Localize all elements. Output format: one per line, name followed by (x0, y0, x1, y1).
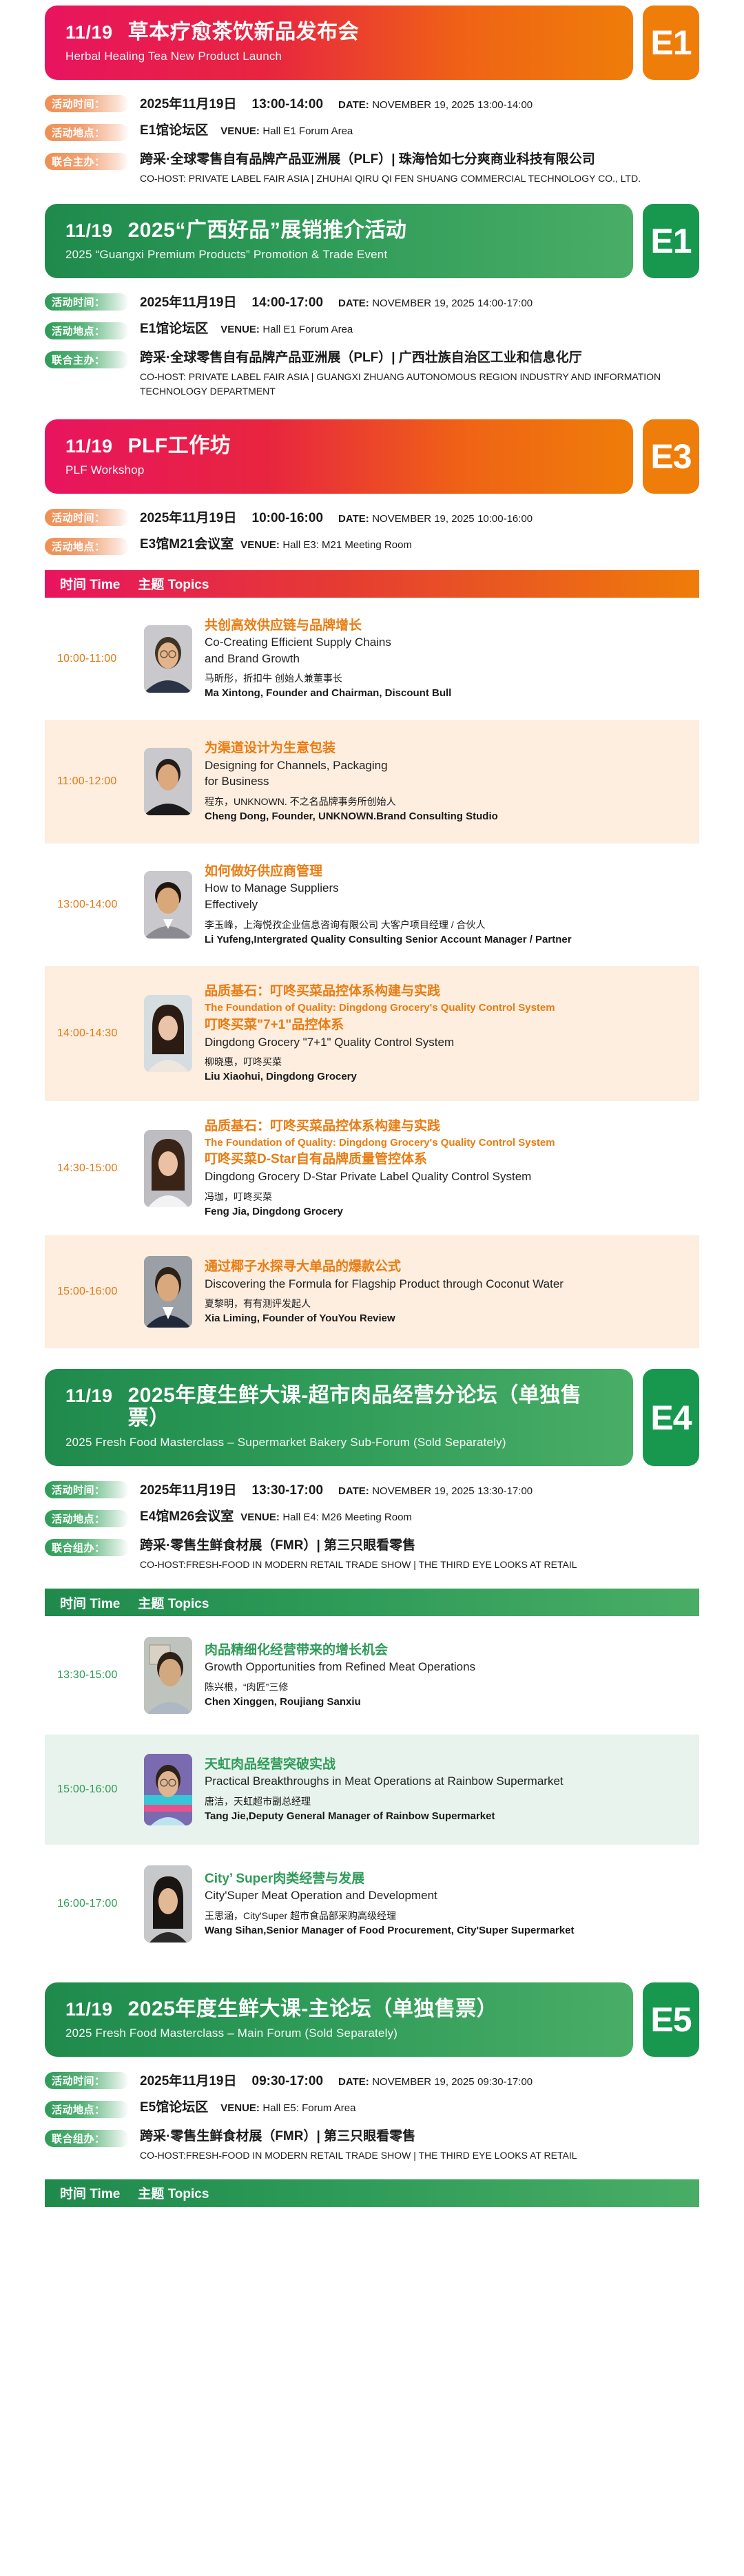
meta-chip-time: 活动时间： (45, 293, 129, 311)
meta-chip-venue: 活动地点： (45, 322, 129, 339)
speaker-avatar (144, 871, 192, 939)
venue-en-label: VENUE: (240, 539, 280, 551)
event-title-cn: PLF工作坊 (128, 434, 231, 457)
date-en: NOVEMBER 19, 2025 (372, 99, 474, 111)
meta-value-time: 2025年11月19日10:00-16:00DATE: NOVEMBER 19,… (129, 507, 699, 526)
meta-chip-venue: 活动地点： (45, 2101, 129, 2118)
hall-badge: E3 (643, 419, 699, 494)
event-block-2: 11/19 2025“广西好品”展销推介活动 2025 “Guangxi Pre… (0, 204, 744, 399)
speaker-avatar (144, 625, 192, 693)
time-cn: 2025年11月19日 (140, 511, 237, 525)
session-body: 如何做好供应商管理 How to Manage Suppliers Effect… (205, 863, 679, 947)
time-en: 09:30-17:00 (477, 2076, 533, 2088)
time-cn: 2025年11月19日 (140, 295, 237, 310)
meta-value-time: 2025年11月19日13:00-14:00DATE: NOVEMBER 19,… (129, 94, 699, 112)
host-en: CO-HOST:FRESH-FOOD IN MODERN RETAIL TRAD… (140, 2148, 699, 2163)
meta-chip-venue: 活动地点： (45, 1510, 129, 1527)
event-block-5: 11/19 2025年度生鲜大课-主论坛（单独售票） 2025 Fresh Fo… (0, 1982, 744, 2163)
speaker-cn: 程东，UNKNOWN. 不之名品牌事务所创始人 (205, 795, 679, 809)
venue-en-label: VENUE: (220, 125, 260, 137)
meta-value-host: 跨采·全球零售自有品牌产品亚洲展（PLF）| 珠海恰如七分爽商业科技有限公司 C… (129, 151, 699, 186)
meta-value-time: 2025年11月19日14:00-17:00DATE: NOVEMBER 19,… (129, 292, 699, 311)
agenda-col-topics: 主题 Topics (138, 2184, 209, 2202)
meta-chip-time: 活动时间： (45, 1481, 129, 1498)
agenda-row[interactable]: 10:00-11:00 共创高效供应链与品牌增长 Co-Creating Eff… (45, 598, 699, 721)
meta-value-host: 跨采·零售生鲜食材展（FMR）| 第三只眼看零售 CO-HOST:FRESH-F… (129, 2128, 699, 2163)
agenda-col-topics: 主题 Topics (138, 1593, 209, 1612)
agenda-col-time: 时间 Time (60, 1593, 120, 1612)
meta-row-venue: 活动地点： E1馆论坛区VENUE: Hall E1 Forum Area (45, 123, 699, 141)
meta-row-host: 联合组办： 跨采·零售生鲜食材展（FMR）| 第三只眼看零售 CO-HOST:F… (45, 1538, 699, 1572)
meta-value-venue: E1馆论坛区VENUE: Hall E1 Forum Area (129, 123, 699, 139)
host-cn: 跨采·零售生鲜食材展（FMR）| 第三只眼看零售 (140, 1538, 415, 1553)
event-banner-row: 11/19 2025年度生鲜大课-超市肉品经营分论坛（单独售票） 2025 Fr… (45, 1369, 699, 1466)
banner-title-line: 11/19 PLF工作坊 (65, 434, 612, 457)
session-subtitle-en: Dingdong Grocery D-Star Private Label Qu… (205, 1169, 679, 1185)
agenda-green: 时间 Time 主题 Topics 13:30-15:00 肉品精细化经营带来的… (0, 1589, 744, 1963)
agenda-warm: 时间 Time 主题 Topics 10:00-11:00 共创高效供应链与品牌… (0, 570, 744, 1349)
meta-chip-host: 联合组办： (45, 2130, 129, 2147)
speaker-avatar (144, 995, 192, 1072)
event-title-cn: 2025“广西好品”展销推介活动 (128, 219, 407, 242)
session-highlight-en: The Foundation of Quality: Dingdong Groc… (205, 1001, 679, 1015)
session-title-en-line2: for Business (205, 774, 679, 790)
meta-value-venue: E5馆论坛区VENUE: Hall E5: Forum Area (129, 2099, 699, 2116)
time-cn: 2025年11月19日 (140, 97, 237, 112)
session-time: 11:00-12:00 (57, 775, 138, 788)
host-cn: 跨采·零售生鲜食材展（FMR）| 第三只眼看零售 (140, 2129, 415, 2144)
meta-row-venue: 活动地点： E3馆M21会议室VENUE: Hall E3: M21 Meeti… (45, 536, 699, 555)
meta-row-host: 联合主办： 跨采·全球零售自有品牌产品亚洲展（PLF）| 珠海恰如七分爽商业科技… (45, 151, 699, 186)
speaker-cn: 王思涵，City'Super 超市食品部采购高级经理 (205, 1909, 679, 1923)
date-en-label: DATE: (338, 513, 369, 525)
session-time: 15:00-16:00 (57, 1783, 138, 1796)
speaker-en: Li Yufeng,Intergrated Quality Consulting… (205, 932, 679, 947)
session-title-cn: City’ Super肉类经营与发展 (205, 1870, 679, 1888)
date-en-label: DATE: (338, 99, 369, 111)
meta-chip-host: 联合主办： (45, 153, 129, 170)
session-title-en-line1: Co-Creating Efficient Supply Chains (205, 635, 679, 651)
host-en: CO-HOST: PRIVATE LABEL FAIR ASIA | GUANG… (140, 370, 699, 399)
meta-chip-time: 活动时间： (45, 2072, 129, 2089)
meta-row-host: 联合组办： 跨采·零售生鲜食材展（FMR）| 第三只眼看零售 CO-HOST:F… (45, 2128, 699, 2163)
meta-value-venue: E1馆论坛区VENUE: Hall E1 Forum Area (129, 321, 699, 337)
time-range: 09:30-17:00 (252, 2074, 324, 2088)
session-body: 共创高效供应链与品牌增长 Co-Creating Efficient Suppl… (205, 617, 679, 702)
agenda-col-time: 时间 Time (60, 2184, 120, 2202)
event-meta: 活动时间： 2025年11月19日09:30-17:00DATE: NOVEMB… (45, 2071, 699, 2163)
meta-row-host: 联合主办： 跨采·全球零售自有品牌产品亚洲展（PLF）| 广西壮族自治区工业和信… (45, 350, 699, 399)
event-date: 11/19 (65, 220, 113, 242)
schedule-page: 11/19 草本疗愈茶饮新品发布会 Herbal Healing Tea New… (0, 6, 744, 2207)
venue-en-label: VENUE: (220, 324, 260, 335)
session-title-en-line1: How to Manage Suppliers (205, 881, 679, 897)
session-body: 为渠道设计为生意包装 Designing for Channels, Packa… (205, 740, 679, 824)
meta-value-time: 2025年11月19日09:30-17:00DATE: NOVEMBER 19,… (129, 2071, 699, 2089)
agenda-row[interactable]: 15:00-16:00 天虹肉品经营突破实战 Practical Breakth… (45, 1735, 699, 1845)
time-range: 13:30-17:00 (252, 1483, 324, 1498)
session-subtitle-cn: 叮咚买菜"7+1"品控体系 (205, 1016, 679, 1034)
host-en: CO-HOST: PRIVATE LABEL FAIR ASIA | ZHUHA… (140, 171, 699, 186)
banner-title-line: 11/19 2025年度生鲜大课-超市肉品经营分论坛（单独售票） (65, 1384, 612, 1430)
time-range: 14:00-17:00 (252, 295, 324, 310)
event-banner[interactable]: 11/19 2025“广西好品”展销推介活动 2025 “Guangxi Pre… (45, 204, 633, 278)
session-title-cn: 为渠道设计为生意包装 (205, 740, 679, 757)
host-cn: 跨采·全球零售自有品牌产品亚洲展（PLF）| 广西壮族自治区工业和信息化厅 (140, 350, 582, 365)
event-meta: 活动时间： 2025年11月19日10:00-16:00DATE: NOVEMB… (45, 507, 699, 555)
speaker-en: Xia Liming, Founder of YouYou Review (205, 1311, 679, 1326)
meta-chip-time: 活动时间： (45, 509, 129, 526)
venue-en: Hall E4: M26 Meeting Room (282, 1511, 412, 1523)
speaker-en: Ma Xintong, Founder and Chairman, Discou… (205, 686, 679, 701)
speaker-avatar (144, 748, 192, 815)
time-en: 10:00-16:00 (477, 513, 533, 525)
event-banner[interactable]: 11/19 草本疗愈茶饮新品发布会 Herbal Healing Tea New… (45, 6, 633, 80)
speaker-en: Cheng Dong, Founder, UNKNOWN.Brand Consu… (205, 809, 679, 824)
meta-row-time: 活动时间： 2025年11月19日13:00-14:00DATE: NOVEMB… (45, 94, 699, 112)
time-range: 10:00-16:00 (252, 511, 324, 525)
event-banner[interactable]: 11/19 2025年度生鲜大课-主论坛（单独售票） 2025 Fresh Fo… (45, 1982, 633, 2057)
time-en: 14:00-17:00 (477, 297, 533, 309)
meta-value-venue: E4馆M26会议室VENUE: Hall E4: M26 Meeting Roo… (129, 1509, 699, 1525)
venue-en-label: VENUE: (220, 2102, 260, 2114)
date-en-label: DATE: (338, 1485, 369, 1497)
event-meta: 活动时间： 2025年11月19日14:00-17:00DATE: NOVEMB… (45, 292, 699, 399)
meta-row-venue: 活动地点： E1馆论坛区VENUE: Hall E1 Forum Area (45, 321, 699, 339)
hall-badge: E4 (643, 1369, 699, 1466)
hall-badge: E1 (643, 204, 699, 278)
session-title-cn: 如何做好供应商管理 (205, 863, 679, 881)
session-highlight-en: The Foundation of Quality: Dingdong Groc… (205, 1136, 679, 1150)
speaker-avatar (144, 1256, 192, 1328)
speaker-cn: 唐洁，天虹超市副总经理 (205, 1794, 679, 1809)
banner-title-line: 11/19 2025年度生鲜大课-主论坛（单独售票） (65, 1998, 612, 2020)
time-cn: 2025年11月19日 (140, 2074, 237, 2088)
event-banner-row: 11/19 草本疗愈茶饮新品发布会 Herbal Healing Tea New… (45, 6, 699, 80)
event-date: 11/19 (65, 436, 113, 457)
agenda-col-topics: 主题 Topics (138, 574, 209, 593)
meta-row-time: 活动时间： 2025年11月19日10:00-16:00DATE: NOVEMB… (45, 507, 699, 526)
venue-cn: E3馆M21会议室 (140, 537, 234, 552)
time-en: 13:30-17:00 (477, 1485, 533, 1497)
agenda-header: 时间 Time 主题 Topics (45, 1589, 699, 1616)
session-subtitle-cn: 叮咚买菜D-Star自有品牌质量管控体系 (205, 1151, 679, 1169)
session-title-en-line1: City'Super Meat Operation and Developmen… (205, 1888, 679, 1904)
venue-en: Hall E1 Forum Area (262, 324, 353, 335)
date-en-label: DATE: (338, 297, 369, 309)
meta-row-time: 活动时间： 2025年11月19日13:30-17:00DATE: NOVEMB… (45, 1480, 699, 1498)
event-block-4: 11/19 2025年度生鲜大课-超市肉品经营分论坛（单独售票） 2025 Fr… (0, 1369, 744, 1572)
speaker-en: Liu Xiaohui, Dingdong Grocery (205, 1069, 679, 1085)
event-banner-row: 11/19 2025“广西好品”展销推介活动 2025 “Guangxi Pre… (45, 204, 699, 278)
session-time: 14:30-15:00 (57, 1162, 138, 1175)
meta-row-time: 活动时间： 2025年11月19日14:00-17:00DATE: NOVEMB… (45, 292, 699, 311)
date-en: NOVEMBER 19, 2025 (372, 2076, 474, 2088)
agenda-green-2: 时间 Time 主题 Topics (0, 2179, 744, 2207)
event-date: 11/19 (65, 22, 113, 43)
session-title-en-line1: Growth Opportunities from Refined Meat O… (205, 1659, 679, 1675)
hall-badge: E1 (643, 6, 699, 80)
session-title-en-line2: and Brand Growth (205, 651, 679, 667)
venue-en: Hall E3: M21 Meeting Room (282, 539, 412, 551)
host-cn: 跨采·全球零售自有品牌产品亚洲展（PLF）| 珠海恰如七分爽商业科技有限公司 (140, 152, 595, 167)
event-title-en: Herbal Healing Tea New Product Launch (65, 50, 612, 63)
meta-row-time: 活动时间： 2025年11月19日09:30-17:00DATE: NOVEMB… (45, 2071, 699, 2089)
hall-badge: E5 (643, 1982, 699, 2057)
session-title-en-line2: Effectively (205, 897, 679, 913)
meta-chip-host: 联合主办： (45, 351, 129, 368)
session-title-cn: 品质基石：叮咚买菜品控体系构建与实践 (205, 983, 679, 1001)
venue-cn: E1馆论坛区 (140, 322, 208, 336)
event-block-3: 11/19 PLF工作坊 PLF Workshop E3 活动时间： 2025年… (0, 419, 744, 555)
meta-value-host: 跨采·全球零售自有品牌产品亚洲展（PLF）| 广西壮族自治区工业和信息化厅 CO… (129, 350, 699, 399)
event-title-cn: 2025年度生鲜大课-超市肉品经营分论坛（单独售票） (128, 1384, 612, 1430)
meta-chip-host: 联合组办： (45, 1539, 129, 1556)
event-date: 11/19 (65, 1999, 113, 2020)
meta-row-venue: 活动地点： E4馆M26会议室VENUE: Hall E4: M26 Meeti… (45, 1509, 699, 1527)
speaker-cn: 陈兴根，“肉匠”三修 (205, 1680, 679, 1695)
meta-row-venue: 活动地点： E5馆论坛区VENUE: Hall E5: Forum Area (45, 2099, 699, 2118)
session-title-cn: 品质基石：叮咚买菜品控体系构建与实践 (205, 1118, 679, 1135)
session-time: 15:00-16:00 (57, 1286, 138, 1298)
event-meta: 活动时间： 2025年11月19日13:30-17:00DATE: NOVEMB… (45, 1480, 699, 1572)
session-title-cn: 通过椰子水探寻大单品的爆款公式 (205, 1258, 679, 1276)
banner-title-line: 11/19 2025“广西好品”展销推介活动 (65, 219, 612, 242)
speaker-en: Feng Jia, Dingdong Grocery (205, 1204, 679, 1219)
meta-chip-venue: 活动地点： (45, 124, 129, 141)
event-title-en: 2025 “Guangxi Premium Products” Promotio… (65, 248, 612, 262)
event-banner-row: 11/19 PLF工作坊 PLF Workshop E3 (45, 419, 699, 494)
event-title-cn: 草本疗愈茶饮新品发布会 (128, 21, 360, 43)
session-body: 肉品精细化经营带来的增长机会 Growth Opportunities from… (205, 1642, 679, 1710)
speaker-en: Chen Xinggen, Roujiang Sanxiu (205, 1695, 679, 1710)
session-title-cn: 共创高效供应链与品牌增长 (205, 617, 679, 635)
venue-cn: E4馆M26会议室 (140, 1509, 234, 1524)
banner-title-line: 11/19 草本疗愈茶饮新品发布会 (65, 21, 612, 43)
event-banner-row: 11/19 2025年度生鲜大课-主论坛（单独售票） 2025 Fresh Fo… (45, 1982, 699, 2057)
agenda-row[interactable]: 16:00-17:00 City’ Super肉类经营与发展 City'Supe… (45, 1845, 699, 1963)
agenda-row[interactable]: 14:00-14:30 品质基石：叮咚买菜品控体系构建与实践 The Found… (45, 966, 699, 1101)
meta-value-time: 2025年11月19日13:30-17:00DATE: NOVEMBER 19,… (129, 1480, 699, 1498)
session-subtitle-en: Dingdong Grocery "7+1" Quality Control S… (205, 1035, 679, 1051)
time-cn: 2025年11月19日 (140, 1483, 237, 1498)
speaker-cn: 李玉峰，上海悦孜企业信息咨询有限公司 大客户项目经理 / 合伙人 (205, 918, 679, 932)
session-title-cn: 天虹肉品经营突破实战 (205, 1756, 679, 1774)
event-date: 11/19 (65, 1385, 113, 1407)
session-time: 13:00-14:00 (57, 899, 138, 911)
speaker-en: Wang Sihan,Senior Manager of Food Procur… (205, 1923, 679, 1938)
event-title-en: PLF Workshop (65, 463, 612, 477)
venue-cn: E5馆论坛区 (140, 2100, 208, 2115)
speaker-avatar (144, 1865, 192, 1943)
event-banner[interactable]: 11/19 2025年度生鲜大课-超市肉品经营分论坛（单独售票） 2025 Fr… (45, 1369, 633, 1466)
session-title-cn: 肉品精细化经营带来的增长机会 (205, 1642, 679, 1659)
speaker-cn: 冯珈，叮咚买菜 (205, 1190, 679, 1204)
event-title-en: 2025 Fresh Food Masterclass – Main Forum… (65, 2027, 612, 2040)
agenda-row[interactable]: 14:30-15:00 品质基石：叮咚买菜品控体系构建与实践 The Found… (45, 1101, 699, 1236)
session-body: City’ Super肉类经营与发展 City'Super Meat Opera… (205, 1870, 679, 1938)
agenda-row[interactable]: 11:00-12:00 为渠道设计为生意包装 Designing for Cha… (45, 720, 699, 844)
session-title-en-line1: Discovering the Formula for Flagship Pro… (205, 1277, 679, 1292)
agenda-col-time: 时间 Time (60, 574, 120, 593)
date-en: NOVEMBER 19, 2025 (372, 1485, 474, 1497)
session-body: 通过椰子水探寻大单品的爆款公式 Discovering the Formula … (205, 1258, 679, 1326)
meta-value-venue: E3馆M21会议室VENUE: Hall E3: M21 Meeting Roo… (129, 536, 699, 553)
session-body: 品质基石：叮咚买菜品控体系构建与实践 The Foundation of Qua… (205, 1118, 679, 1219)
agenda-header: 时间 Time 主题 Topics (45, 570, 699, 598)
meta-chip-venue: 活动地点： (45, 538, 129, 555)
session-body: 品质基石：叮咚买菜品控体系构建与实践 The Foundation of Qua… (205, 983, 679, 1085)
session-body: 天虹肉品经营突破实战 Practical Breakthroughs in Me… (205, 1756, 679, 1824)
event-meta: 活动时间： 2025年11月19日13:00-14:00DATE: NOVEMB… (45, 94, 699, 186)
event-title-en: 2025 Fresh Food Masterclass – Supermarke… (65, 1436, 612, 1449)
date-en-label: DATE: (338, 2076, 369, 2088)
host-en: CO-HOST:FRESH-FOOD IN MODERN RETAIL TRAD… (140, 1558, 699, 1572)
venue-en-label: VENUE: (240, 1511, 280, 1523)
date-en: NOVEMBER 19, 2025 (372, 297, 474, 309)
speaker-avatar (144, 1637, 192, 1714)
session-title-en-line1: Designing for Channels, Packaging (205, 758, 679, 774)
date-en: NOVEMBER 19, 2025 (372, 513, 474, 525)
session-time: 14:00-14:30 (57, 1027, 138, 1040)
agenda-header: 时间 Time 主题 Topics (45, 2179, 699, 2207)
speaker-cn: 夏黎明，有有测评发起人 (205, 1297, 679, 1311)
session-time: 13:30-15:00 (57, 1669, 138, 1682)
speaker-avatar (144, 1130, 192, 1207)
event-block-1: 11/19 草本疗愈茶饮新品发布会 Herbal Healing Tea New… (0, 6, 744, 186)
venue-en: Hall E1 Forum Area (262, 125, 353, 137)
time-range: 13:00-14:00 (252, 97, 324, 112)
meta-chip-time: 活动时间： (45, 95, 129, 112)
venue-en: Hall E5: Forum Area (262, 2102, 355, 2114)
session-time: 16:00-17:00 (57, 1898, 138, 1910)
speaker-cn: 柳晓惠，叮咚买菜 (205, 1055, 679, 1069)
event-title-cn: 2025年度生鲜大课-主论坛（单独售票） (128, 1998, 498, 2020)
time-en: 13:00-14:00 (477, 99, 533, 111)
agenda-row[interactable]: 13:30-15:00 肉品精细化经营带来的增长机会 Growth Opport… (45, 1616, 699, 1735)
session-time: 10:00-11:00 (57, 653, 138, 665)
speaker-en: Tang Jie,Deputy General Manager of Rainb… (205, 1809, 679, 1824)
speaker-avatar (144, 1754, 192, 1825)
meta-value-host: 跨采·零售生鲜食材展（FMR）| 第三只眼看零售 CO-HOST:FRESH-F… (129, 1538, 699, 1572)
agenda-row[interactable]: 13:00-14:00 如何做好供应商管理 How to Manage Supp… (45, 844, 699, 967)
event-banner[interactable]: 11/19 PLF工作坊 PLF Workshop (45, 419, 633, 494)
venue-cn: E1馆论坛区 (140, 123, 208, 138)
agenda-row[interactable]: 15:00-16:00 通过椰子水探寻大单品的爆款公式 Discovering … (45, 1235, 699, 1348)
session-title-en-line1: Practical Breakthroughs in Meat Operatio… (205, 1774, 679, 1790)
speaker-cn: 马昕彤，折扣牛 创始人兼董事长 (205, 671, 679, 686)
